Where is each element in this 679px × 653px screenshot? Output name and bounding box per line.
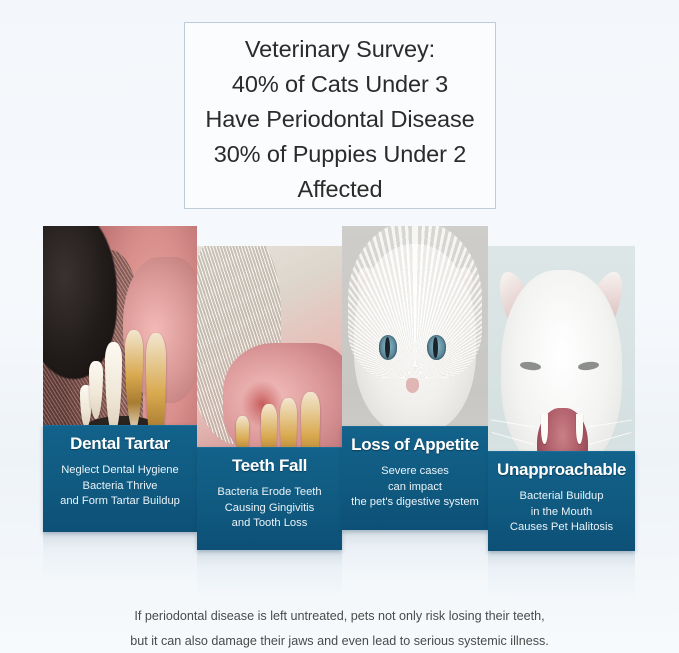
survey-headline-box: Veterinary Survey: 40% of Cats Under 3 H… (184, 22, 496, 209)
card-body-line: in the Mouth (492, 505, 631, 521)
card-body-line: Causing Gingivitis (201, 501, 338, 517)
footer-line-2: but it can also damage their jaws and ev… (0, 629, 679, 653)
card-body: Neglect Dental Hygiene Bacteria Thrive a… (43, 463, 197, 510)
card-body-line: Causes Pet Halitosis (492, 520, 631, 536)
card-body-line: Bacteria Erode Teeth (201, 485, 338, 501)
card-body-line: the pet's digestive system (346, 495, 484, 511)
panel-reflection-4 (488, 551, 635, 599)
card-body-line: and Form Tartar Buildup (47, 494, 193, 510)
card-dental-tartar[interactable]: Dental Tartar Neglect Dental Hygiene Bac… (43, 226, 197, 532)
card-body-line: Severe cases (346, 464, 484, 480)
card-title: Teeth Fall (197, 456, 342, 476)
card-caption-teeth-fall: Teeth Fall Bacteria Erode Teeth Causing … (197, 447, 342, 550)
card-loss-of-appetite[interactable]: Loss of Appetite Severe cases can impact… (342, 226, 488, 530)
card-body-line: Bacteria Thrive (47, 479, 193, 495)
card-body: Severe cases can impact the pet's digest… (342, 464, 488, 511)
card-body-line: and Tooth Loss (201, 516, 338, 532)
footer-line-1: If periodontal disease is left untreated… (0, 604, 679, 629)
card-body-line: Bacterial Buildup (492, 489, 631, 505)
panel-reflection-1 (43, 532, 197, 580)
card-body: Bacterial Buildup in the Mouth Causes Pe… (488, 489, 635, 536)
card-body: Bacteria Erode Teeth Causing Gingivitis … (197, 485, 342, 532)
card-title: Loss of Appetite (342, 435, 488, 455)
headline-line-2: 40% of Cats Under 3 (232, 67, 448, 102)
headline-line-3: Have Periodontal Disease (205, 102, 474, 137)
card-caption-dental-tartar: Dental Tartar Neglect Dental Hygiene Bac… (43, 425, 197, 532)
card-unapproachable[interactable]: Unapproachable Bacterial Buildup in the … (488, 246, 635, 551)
survey-headline-lines: Veterinary Survey: 40% of Cats Under 3 H… (185, 32, 495, 207)
headline-line-5: Affected (298, 172, 383, 207)
card-title: Dental Tartar (43, 434, 197, 454)
card-teeth-fall[interactable]: Teeth Fall Bacteria Erode Teeth Causing … (197, 246, 342, 550)
card-body-line: can impact (346, 480, 484, 496)
card-title: Unapproachable (488, 460, 635, 480)
card-caption-unapproachable: Unapproachable Bacterial Buildup in the … (488, 451, 635, 551)
card-caption-loss-of-appetite: Loss of Appetite Severe cases can impact… (342, 426, 488, 530)
card-body-line: Neglect Dental Hygiene (47, 463, 193, 479)
panel-reflection-2 (197, 550, 342, 598)
panel-reflection-3 (342, 530, 488, 578)
footer-note: If periodontal disease is left untreated… (0, 604, 679, 653)
infographic-root: Veterinary Survey: 40% of Cats Under 3 H… (0, 0, 679, 653)
headline-line-1: Veterinary Survey: (245, 32, 435, 67)
headline-line-4: 30% of Puppies Under 2 (214, 137, 467, 172)
